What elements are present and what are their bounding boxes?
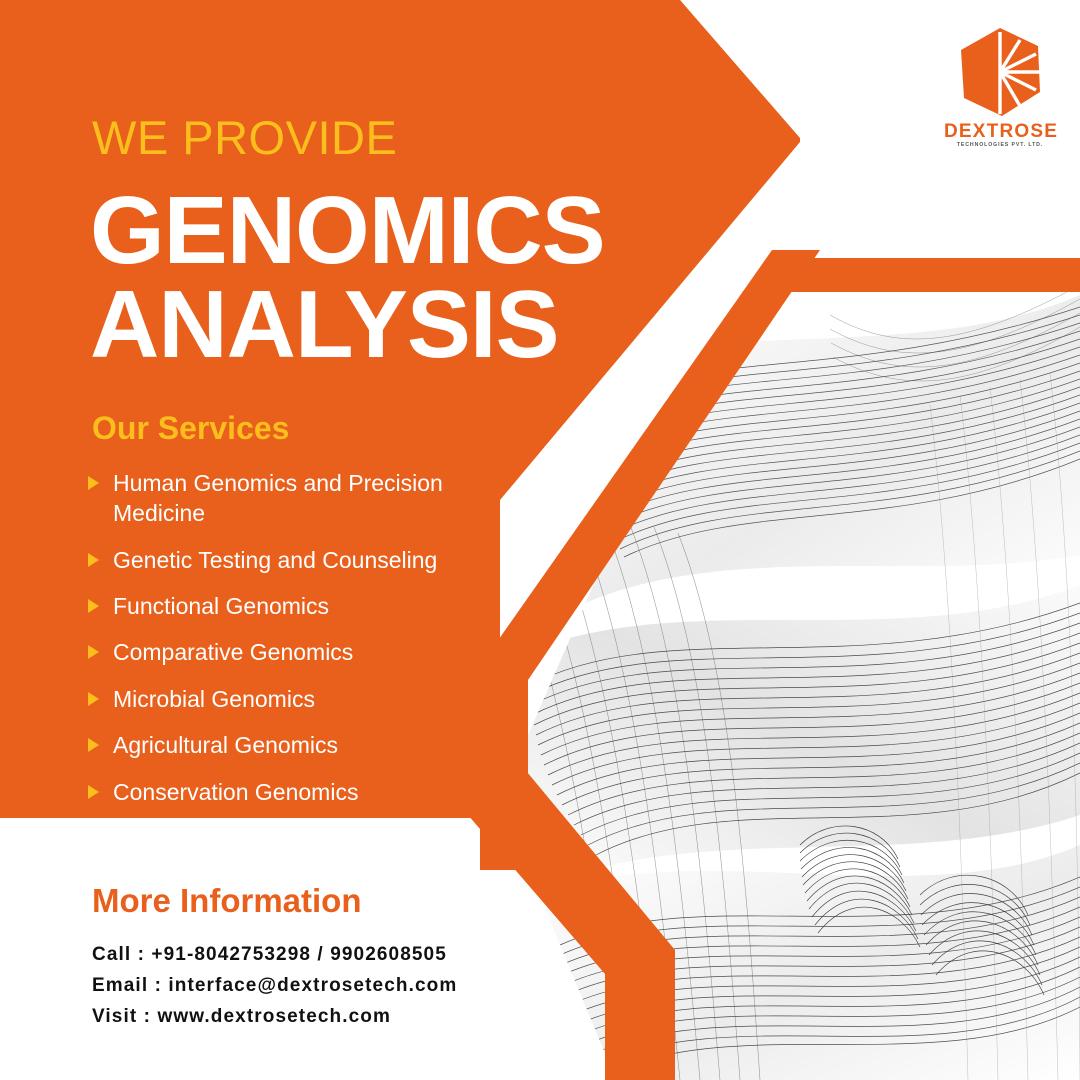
- contact-details: Call : +91-8042753298 / 9902608505 Email…: [92, 940, 457, 1033]
- service-label: Functional Genomics: [113, 591, 329, 621]
- contact-website[interactable]: Visit : www.dextrosetech.com: [92, 1002, 457, 1033]
- triangle-bullet-icon: [88, 785, 99, 799]
- contact-email[interactable]: Email : interface@dextrosetech.com: [92, 971, 457, 1002]
- contact-heading: More Information: [92, 884, 362, 917]
- brand-logo: DEXTROSE TECHNOLOGIES PVT. LTD.: [944, 26, 1056, 152]
- services-heading: Our Services: [92, 412, 289, 444]
- triangle-bullet-icon: [88, 553, 99, 567]
- service-label: Conservation Genomics: [113, 777, 358, 807]
- page-title: GENOMICS ANALYSIS: [90, 184, 605, 372]
- service-label: Agricultural Genomics: [113, 730, 338, 760]
- list-item: Human Genomics and Precision Medicine: [88, 468, 518, 529]
- service-label: Human Genomics and Precision Medicine: [113, 468, 518, 529]
- service-label: Comparative Genomics: [113, 637, 353, 667]
- hero-eyebrow: WE PROVIDE: [92, 114, 397, 161]
- brand-tagline: TECHNOLOGIES PVT. LTD.: [944, 143, 1056, 148]
- contact-phone[interactable]: Call : +91-8042753298 / 9902608505: [92, 940, 457, 971]
- list-item: Functional Genomics: [88, 591, 518, 621]
- list-item: Conservation Genomics: [88, 777, 518, 807]
- triangle-bullet-icon: [88, 692, 99, 706]
- service-label: Microbial Genomics: [113, 684, 315, 714]
- brand-name: DEXTROSE: [944, 122, 1056, 141]
- triangle-bullet-icon: [88, 599, 99, 613]
- service-label: Genetic Testing and Counseling: [113, 545, 437, 575]
- services-list: Human Genomics and Precision Medicine Ge…: [88, 468, 518, 823]
- list-item: Microbial Genomics: [88, 684, 518, 714]
- artwork-top-orange-band: [790, 258, 1080, 292]
- triangle-bullet-icon: [88, 645, 99, 659]
- list-item: Comparative Genomics: [88, 637, 518, 667]
- list-item: Genetic Testing and Counseling: [88, 545, 518, 575]
- triangle-bullet-icon: [88, 738, 99, 752]
- poster-canvas: WE PROVIDE GENOMICS ANALYSIS Our Service…: [0, 0, 1080, 1080]
- triangle-bullet-icon: [88, 476, 99, 490]
- list-item: Agricultural Genomics: [88, 730, 518, 760]
- hexagon-burst-logo-icon: [956, 26, 1044, 118]
